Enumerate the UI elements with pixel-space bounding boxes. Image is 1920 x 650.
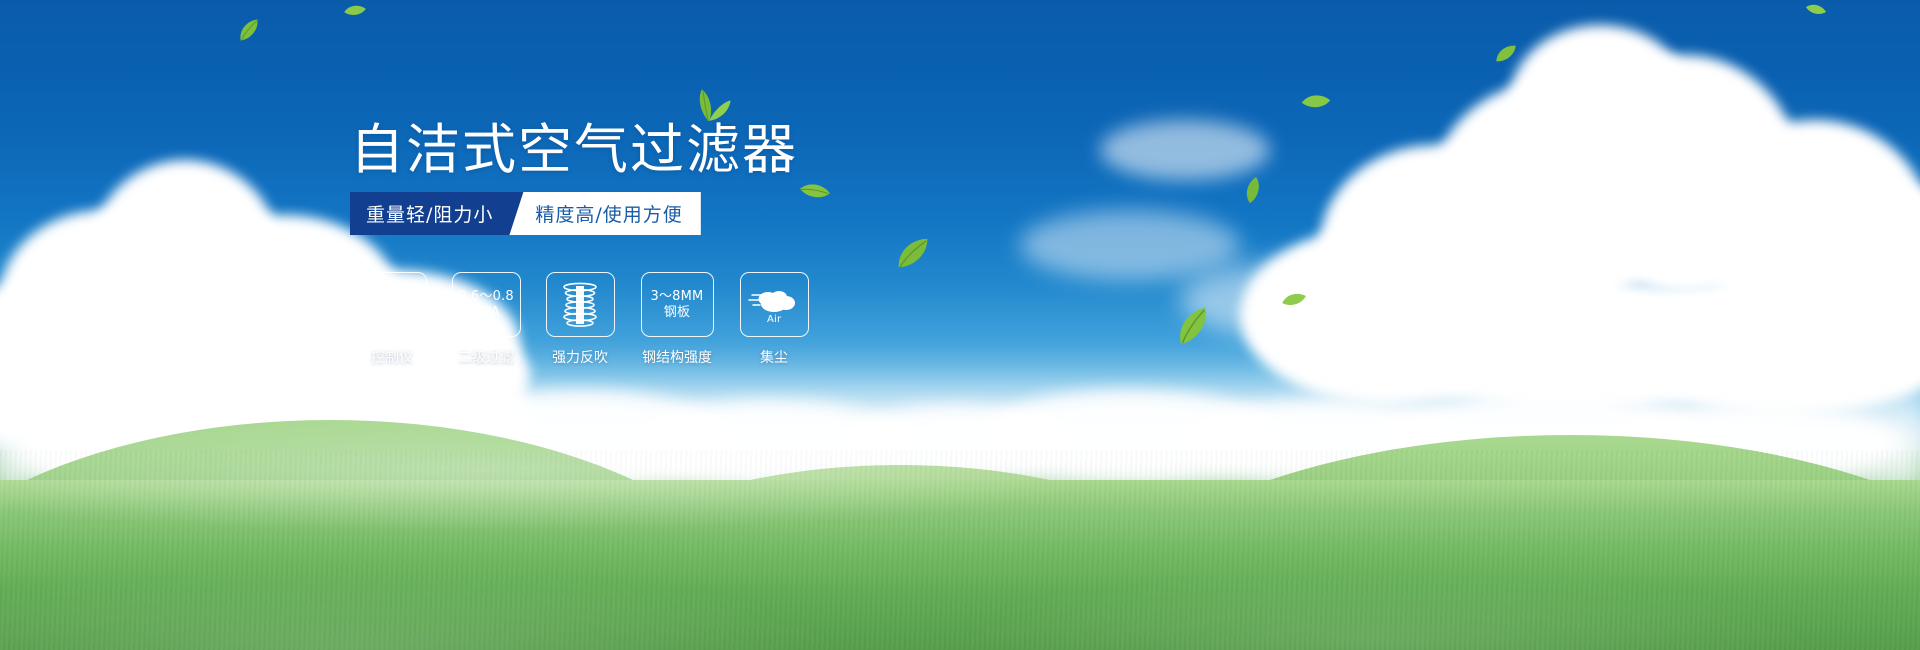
badge-weight-resistance: 重量轻/阻力小: [350, 192, 523, 235]
steel-thickness-text: 3～8MM: [651, 289, 704, 305]
coil-icon: [555, 281, 605, 329]
feature-badges: 重量轻/阻力小 精度高/使用方便: [350, 192, 701, 235]
feature-label-controller: 控制仪: [371, 347, 413, 367]
product-hero-banner: 自洁式空气过滤器 重量轻/阻力小 精度高/使用方便: [0, 0, 1920, 650]
feature-icon-row: NO OFF 控制仪 0.6～0.8 MPA 二级过滤: [357, 272, 809, 367]
steel-icon-box: 3～8MM 钢板: [641, 272, 714, 337]
feature-label-two-stage-filter: 二级过滤: [458, 347, 514, 367]
feature-steel-strength: 3～8MM 钢板 钢结构强度: [639, 272, 715, 367]
feature-strong-backblow: 强力反吹: [545, 272, 615, 367]
feature-dust-collection: Air 集尘: [739, 272, 809, 367]
feature-label-steel-strength: 钢结构强度: [642, 347, 712, 367]
dust-icon-box: Air: [740, 272, 809, 337]
badge-precision-convenience: 精度高/使用方便: [509, 192, 700, 235]
controller-icon-box: NO OFF: [358, 272, 427, 337]
gauge-icon: NO OFF: [364, 281, 420, 329]
feature-two-stage-filter: 0.6～0.8 MPA 二级过滤: [451, 272, 521, 367]
pressure-unit-text: MPA: [472, 305, 500, 321]
feature-label-strong-backblow: 强力反吹: [552, 347, 608, 367]
pressure-range-text: 0.6～0.8: [458, 289, 514, 305]
page-title: 自洁式空气过滤器: [350, 120, 798, 180]
feature-label-dust-collection: 集尘: [760, 347, 788, 367]
steel-plate-text: 钢板: [664, 305, 690, 321]
backblow-icon-box: [546, 272, 615, 337]
feature-controller: NO OFF 控制仪: [357, 272, 427, 367]
air-cloud-icon: Air: [746, 282, 802, 328]
gauge-label-off: OFF: [400, 321, 411, 327]
pressure-icon-box: 0.6～0.8 MPA: [452, 272, 521, 337]
air-label-text: Air: [767, 314, 782, 325]
gauge-label-no: NO: [369, 301, 379, 309]
